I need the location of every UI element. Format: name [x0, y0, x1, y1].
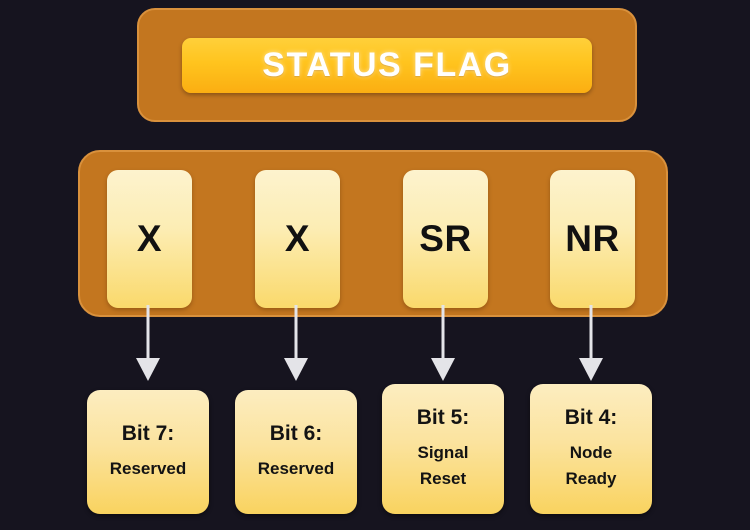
register-cell-3[interactable]: NR: [550, 170, 635, 308]
bit-7-title: Bit 7:: [122, 422, 175, 446]
bit-4-desc-line: Ready: [565, 466, 616, 492]
bit-5-box[interactable]: Bit 5:SignalReset: [382, 384, 504, 514]
bit-5-desc-line: Signal: [417, 440, 468, 466]
status-flag-title-bar: STATUS FLAG: [182, 38, 592, 93]
bit-6-desc-line: Reserved: [258, 456, 335, 482]
bit-4-desc-line: Node: [570, 440, 613, 466]
bit-4-title: Bit 4:: [565, 406, 618, 430]
page-title: STATUS FLAG: [262, 46, 511, 85]
bit-5-desc-line: Reset: [420, 466, 466, 492]
bit-5-title: Bit 5:: [417, 406, 470, 430]
register-cell-label: NR: [565, 218, 619, 260]
status-flag-diagram: STATUS FLAG XXSRNR Bit 7:ReservedBit 6:R…: [0, 0, 750, 530]
bit-6-title: Bit 6:: [270, 422, 323, 446]
register-cell-label: SR: [419, 218, 471, 260]
bit-4-box[interactable]: Bit 4:NodeReady: [530, 384, 652, 514]
register-cell-label: X: [137, 218, 162, 260]
register-cell-label: X: [285, 218, 310, 260]
register-cell-1[interactable]: X: [255, 170, 340, 308]
register-cell-0[interactable]: X: [107, 170, 192, 308]
register-cell-2[interactable]: SR: [403, 170, 488, 308]
register-frame: XXSRNR: [78, 150, 668, 317]
bit-7-box[interactable]: Bit 7:Reserved: [87, 390, 209, 514]
bit-6-box[interactable]: Bit 6:Reserved: [235, 390, 357, 514]
bit-7-desc-line: Reserved: [110, 456, 187, 482]
status-flag-title-frame: STATUS FLAG: [137, 8, 637, 122]
